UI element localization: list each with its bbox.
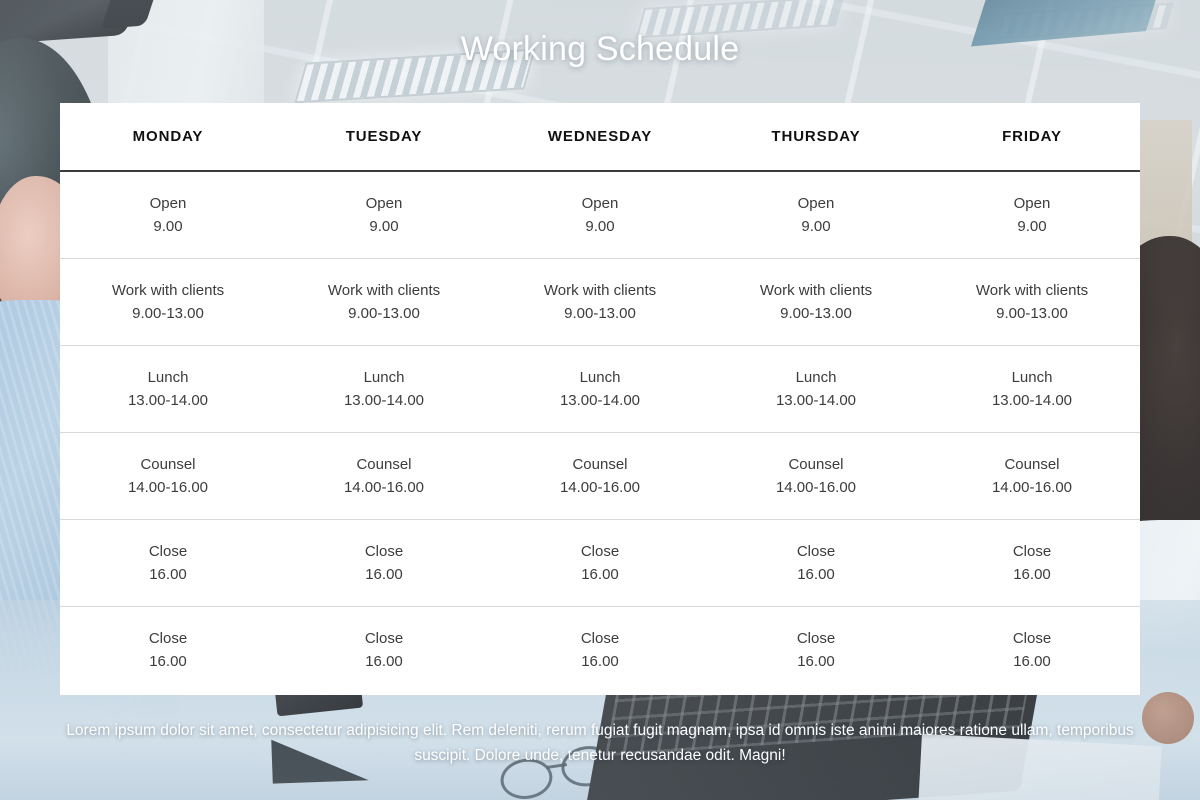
schedule-cell[interactable]: Counsel 14.00-16.00 bbox=[924, 432, 1140, 519]
cell-task-label: Counsel bbox=[60, 453, 276, 476]
cell-time-label: 9.00 bbox=[492, 215, 708, 238]
cell-task-label: Counsel bbox=[708, 453, 924, 476]
cell-time-label: 9.00-13.00 bbox=[276, 302, 492, 325]
cell-task-label: Close bbox=[60, 540, 276, 563]
cell-task-label: Open bbox=[708, 192, 924, 215]
cell-task-label: Lunch bbox=[276, 366, 492, 389]
schedule-cell[interactable]: Work with clients 9.00-13.00 bbox=[924, 258, 1140, 345]
cell-task-label: Lunch bbox=[708, 366, 924, 389]
column-header-wednesday[interactable]: WEDNESDAY bbox=[492, 103, 708, 171]
schedule-cell[interactable]: Work with clients 9.00-13.00 bbox=[276, 258, 492, 345]
cell-task-label: Open bbox=[276, 192, 492, 215]
cell-time-label: 16.00 bbox=[924, 563, 1140, 586]
table-row: Lunch 13.00-14.00 Lunch 13.00-14.00 Lunc… bbox=[60, 345, 1140, 432]
cell-time-label: 16.00 bbox=[276, 650, 492, 673]
cell-time-label: 13.00-14.00 bbox=[276, 389, 492, 412]
schedule-table: MONDAY TUESDAY WEDNESDAY THURSDAY FRIDAY… bbox=[60, 103, 1140, 693]
schedule-cell[interactable]: Close 16.00 bbox=[492, 519, 708, 606]
table-row: Work with clients 9.00-13.00 Work with c… bbox=[60, 258, 1140, 345]
cell-time-label: 16.00 bbox=[492, 650, 708, 673]
cell-time-label: 13.00-14.00 bbox=[492, 389, 708, 412]
cell-time-label: 9.00 bbox=[708, 215, 924, 238]
schedule-table-body: Open 9.00 Open 9.00 Open 9.00 Open 9.00 bbox=[60, 171, 1140, 693]
cell-task-label: Counsel bbox=[276, 453, 492, 476]
cell-time-label: 9.00-13.00 bbox=[708, 302, 924, 325]
cell-time-label: 9.00 bbox=[276, 215, 492, 238]
schedule-cell[interactable]: Open 9.00 bbox=[708, 171, 924, 258]
cell-time-label: 13.00-14.00 bbox=[708, 389, 924, 412]
schedule-cell[interactable]: Close 16.00 bbox=[276, 606, 492, 693]
schedule-cell[interactable]: Open 9.00 bbox=[276, 171, 492, 258]
cell-task-label: Work with clients bbox=[708, 279, 924, 302]
schedule-cell[interactable]: Work with clients 9.00-13.00 bbox=[492, 258, 708, 345]
schedule-cell[interactable]: Close 16.00 bbox=[492, 606, 708, 693]
schedule-cell[interactable]: Close 16.00 bbox=[708, 519, 924, 606]
cell-task-label: Work with clients bbox=[60, 279, 276, 302]
cell-task-label: Open bbox=[60, 192, 276, 215]
cell-task-label: Lunch bbox=[60, 366, 276, 389]
schedule-cell[interactable]: Close 16.00 bbox=[60, 606, 276, 693]
schedule-card: MONDAY TUESDAY WEDNESDAY THURSDAY FRIDAY… bbox=[60, 103, 1140, 695]
cell-task-label: Counsel bbox=[924, 453, 1140, 476]
column-header-friday[interactable]: FRIDAY bbox=[924, 103, 1140, 171]
column-header-tuesday[interactable]: TUESDAY bbox=[276, 103, 492, 171]
column-header-monday[interactable]: MONDAY bbox=[60, 103, 276, 171]
cell-task-label: Close bbox=[492, 540, 708, 563]
cell-task-label: Open bbox=[492, 192, 708, 215]
cell-task-label: Open bbox=[924, 192, 1140, 215]
cell-task-label: Close bbox=[276, 540, 492, 563]
cell-time-label: 14.00-16.00 bbox=[60, 476, 276, 499]
cell-time-label: 16.00 bbox=[924, 650, 1140, 673]
cell-time-label: 13.00-14.00 bbox=[60, 389, 276, 412]
cell-time-label: 16.00 bbox=[492, 563, 708, 586]
cell-task-label: Work with clients bbox=[924, 279, 1140, 302]
schedule-table-head: MONDAY TUESDAY WEDNESDAY THURSDAY FRIDAY bbox=[60, 103, 1140, 171]
footer-description: Lorem ipsum dolor sit amet, consectetur … bbox=[60, 718, 1140, 768]
cell-time-label: 14.00-16.00 bbox=[276, 476, 492, 499]
schedule-cell[interactable]: Close 16.00 bbox=[708, 606, 924, 693]
schedule-cell[interactable]: Counsel 14.00-16.00 bbox=[276, 432, 492, 519]
cell-time-label: 9.00-13.00 bbox=[60, 302, 276, 325]
cell-time-label: 13.00-14.00 bbox=[924, 389, 1140, 412]
page-root: Working Schedule MONDAY TUESDAY WEDNESDA… bbox=[0, 0, 1200, 800]
cell-task-label: Close bbox=[708, 627, 924, 650]
table-row: Close 16.00 Close 16.00 Close 16.00 Clos… bbox=[60, 519, 1140, 606]
schedule-cell[interactable]: Lunch 13.00-14.00 bbox=[492, 345, 708, 432]
schedule-cell[interactable]: Work with clients 9.00-13.00 bbox=[708, 258, 924, 345]
schedule-cell[interactable]: Close 16.00 bbox=[924, 606, 1140, 693]
column-header-thursday[interactable]: THURSDAY bbox=[708, 103, 924, 171]
cell-task-label: Close bbox=[276, 627, 492, 650]
cell-task-label: Counsel bbox=[492, 453, 708, 476]
cell-task-label: Work with clients bbox=[492, 279, 708, 302]
cell-time-label: 9.00 bbox=[60, 215, 276, 238]
table-row: Close 16.00 Close 16.00 Close 16.00 Clos… bbox=[60, 606, 1140, 693]
cell-task-label: Lunch bbox=[924, 366, 1140, 389]
schedule-cell[interactable]: Close 16.00 bbox=[924, 519, 1140, 606]
table-row: Open 9.00 Open 9.00 Open 9.00 Open 9.00 bbox=[60, 171, 1140, 258]
cell-time-label: 9.00-13.00 bbox=[492, 302, 708, 325]
schedule-header-row: MONDAY TUESDAY WEDNESDAY THURSDAY FRIDAY bbox=[60, 103, 1140, 171]
cell-time-label: 14.00-16.00 bbox=[492, 476, 708, 499]
schedule-cell[interactable]: Counsel 14.00-16.00 bbox=[492, 432, 708, 519]
cell-task-label: Close bbox=[708, 540, 924, 563]
table-row: Counsel 14.00-16.00 Counsel 14.00-16.00 … bbox=[60, 432, 1140, 519]
cell-task-label: Close bbox=[492, 627, 708, 650]
schedule-cell[interactable]: Counsel 14.00-16.00 bbox=[708, 432, 924, 519]
schedule-cell[interactable]: Lunch 13.00-14.00 bbox=[60, 345, 276, 432]
cell-task-label: Lunch bbox=[492, 366, 708, 389]
schedule-cell[interactable]: Lunch 13.00-14.00 bbox=[276, 345, 492, 432]
schedule-cell[interactable]: Lunch 13.00-14.00 bbox=[708, 345, 924, 432]
cell-time-label: 16.00 bbox=[708, 650, 924, 673]
cell-task-label: Close bbox=[60, 627, 276, 650]
cell-time-label: 16.00 bbox=[276, 563, 492, 586]
cell-task-label: Work with clients bbox=[276, 279, 492, 302]
schedule-cell[interactable]: Open 9.00 bbox=[924, 171, 1140, 258]
cell-time-label: 9.00-13.00 bbox=[924, 302, 1140, 325]
cell-task-label: Close bbox=[924, 627, 1140, 650]
cell-time-label: 16.00 bbox=[60, 650, 276, 673]
schedule-cell[interactable]: Open 9.00 bbox=[60, 171, 276, 258]
cell-time-label: 16.00 bbox=[60, 563, 276, 586]
cell-task-label: Close bbox=[924, 540, 1140, 563]
schedule-cell[interactable]: Lunch 13.00-14.00 bbox=[924, 345, 1140, 432]
schedule-cell[interactable]: Close 16.00 bbox=[60, 519, 276, 606]
cell-time-label: 16.00 bbox=[708, 563, 924, 586]
schedule-cell[interactable]: Counsel 14.00-16.00 bbox=[60, 432, 276, 519]
schedule-cell[interactable]: Close 16.00 bbox=[276, 519, 492, 606]
schedule-cell[interactable]: Open 9.00 bbox=[492, 171, 708, 258]
page-title: Working Schedule bbox=[0, 30, 1200, 69]
cell-time-label: 14.00-16.00 bbox=[924, 476, 1140, 499]
cell-time-label: 9.00 bbox=[924, 215, 1140, 238]
schedule-cell[interactable]: Work with clients 9.00-13.00 bbox=[60, 258, 276, 345]
cell-time-label: 14.00-16.00 bbox=[708, 476, 924, 499]
